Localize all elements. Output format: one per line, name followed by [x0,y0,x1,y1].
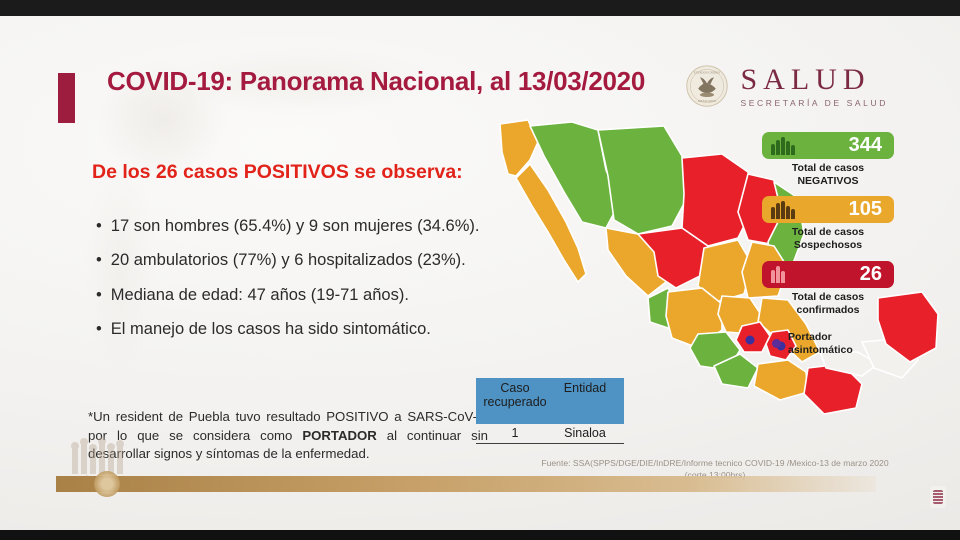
list-item: • Mediana de edad: 47 años (19-71 años). [96,285,486,306]
cell-count: 1 [480,426,550,440]
column-header-entidad: Entidad [550,381,620,419]
svg-text:MEXICANOS: MEXICANOS [697,99,716,103]
list-item: • 17 son hombres (65.4%) y 9 son mujeres… [96,216,486,237]
bullet-dot-icon: • [96,285,102,306]
title-accent-bar [58,73,75,123]
bullet-dot-icon: • [96,319,102,340]
bullet-dot-icon: • [96,216,102,237]
table-header-row: Caso recuperado Entidad [476,378,624,424]
state-oaxaca [754,360,808,400]
footnote-emphasis: PORTADOR [302,428,376,443]
legend-item-negativos: 344 Total de casos NEGATIVOS [762,132,894,188]
people-group-icon [771,137,795,155]
confirmados-label: Total de casos confirmados [762,291,894,317]
list-item-text: Mediana de edad: 47 años (19-71 años). [111,285,486,306]
table-row: 1 Sinaloa [476,424,624,444]
recovered-cases-table: Caso recuperado Entidad 1 Sinaloa [476,378,624,444]
people-group-icon [771,201,795,219]
column-header-caso-recuperado: Caso recuperado [480,381,550,419]
broadcast-slide: COVID-19: Panorama Nacional, al 13/03/20… [0,0,960,540]
footer-seal-icon [94,471,120,497]
corner-emblem-icon [930,486,946,508]
list-item: • El manejo de los casos ha sido sintomá… [96,319,486,340]
bullet-list: • 17 son hombres (65.4%) y 9 son mujeres… [96,216,486,354]
carrier-dot-icon [746,336,755,345]
logo-subtitle: SECRETARÍA DE SALUD [741,99,889,108]
map-legend: 344 Total de casos NEGATIVOS 105 Total d… [762,132,894,356]
slide-canvas: COVID-19: Panorama Nacional, al 13/03/20… [0,16,960,530]
negativos-label: Total de casos NEGATIVOS [762,162,894,188]
footer-gold-bar [56,476,876,492]
bottom-letterbox-band [0,530,960,540]
page-title: COVID-19: Panorama Nacional, al 13/03/20… [96,66,656,98]
mexican-eagle-emblem-icon: ESTADOS UNIDOS MEXICANOS [685,64,729,108]
legend-item-portador: Portador asintomático [762,331,894,357]
sospechosos-value: 105 [849,198,882,221]
cell-state: Sinaloa [550,426,620,440]
list-item: • 20 ambulatorios (77%) y 6 hospitalizad… [96,250,486,271]
lead-statement: De los 26 casos POSITIVOS se observa: [92,160,484,185]
list-item-text: 20 ambulatorios (77%) y 6 hospitalizados… [111,250,486,271]
confirmados-value: 26 [860,263,882,286]
svg-text:ESTADOS UNIDOS: ESTADOS UNIDOS [693,71,719,75]
bullet-dot-icon: • [96,250,102,271]
salud-logo: ESTADOS UNIDOS MEXICANOS SALUD SECRETARÍ… [685,64,889,108]
sospechosos-badge: 105 [762,196,894,223]
list-item-text: 17 son hombres (65.4%) y 9 son mujeres (… [111,216,486,237]
logo-wordmark: SALUD [741,65,889,95]
people-group-icon [771,265,785,283]
negativos-badge: 344 [762,132,894,159]
sospechosos-label: Total de casos Sospechosos [762,226,894,252]
legend-item-confirmados: 26 Total de casos confirmados [762,261,894,317]
negativos-value: 344 [849,134,882,157]
footnote: *Un resident de Puebla tuvo resultado PO… [88,408,488,464]
list-item-text: El manejo de los casos ha sido sintomáti… [111,319,486,340]
top-letterbox-band [0,0,960,16]
source-line-1: Fuente: SSA(SPPS/DGE/DIE/InDRE/Informe t… [500,457,930,469]
legend-item-sospechosos: 105 Total de casos Sospechosos [762,196,894,252]
confirmados-badge: 26 [762,261,894,288]
portador-label: Portador asintomático [788,331,894,357]
purple-dot-icon [772,339,781,348]
